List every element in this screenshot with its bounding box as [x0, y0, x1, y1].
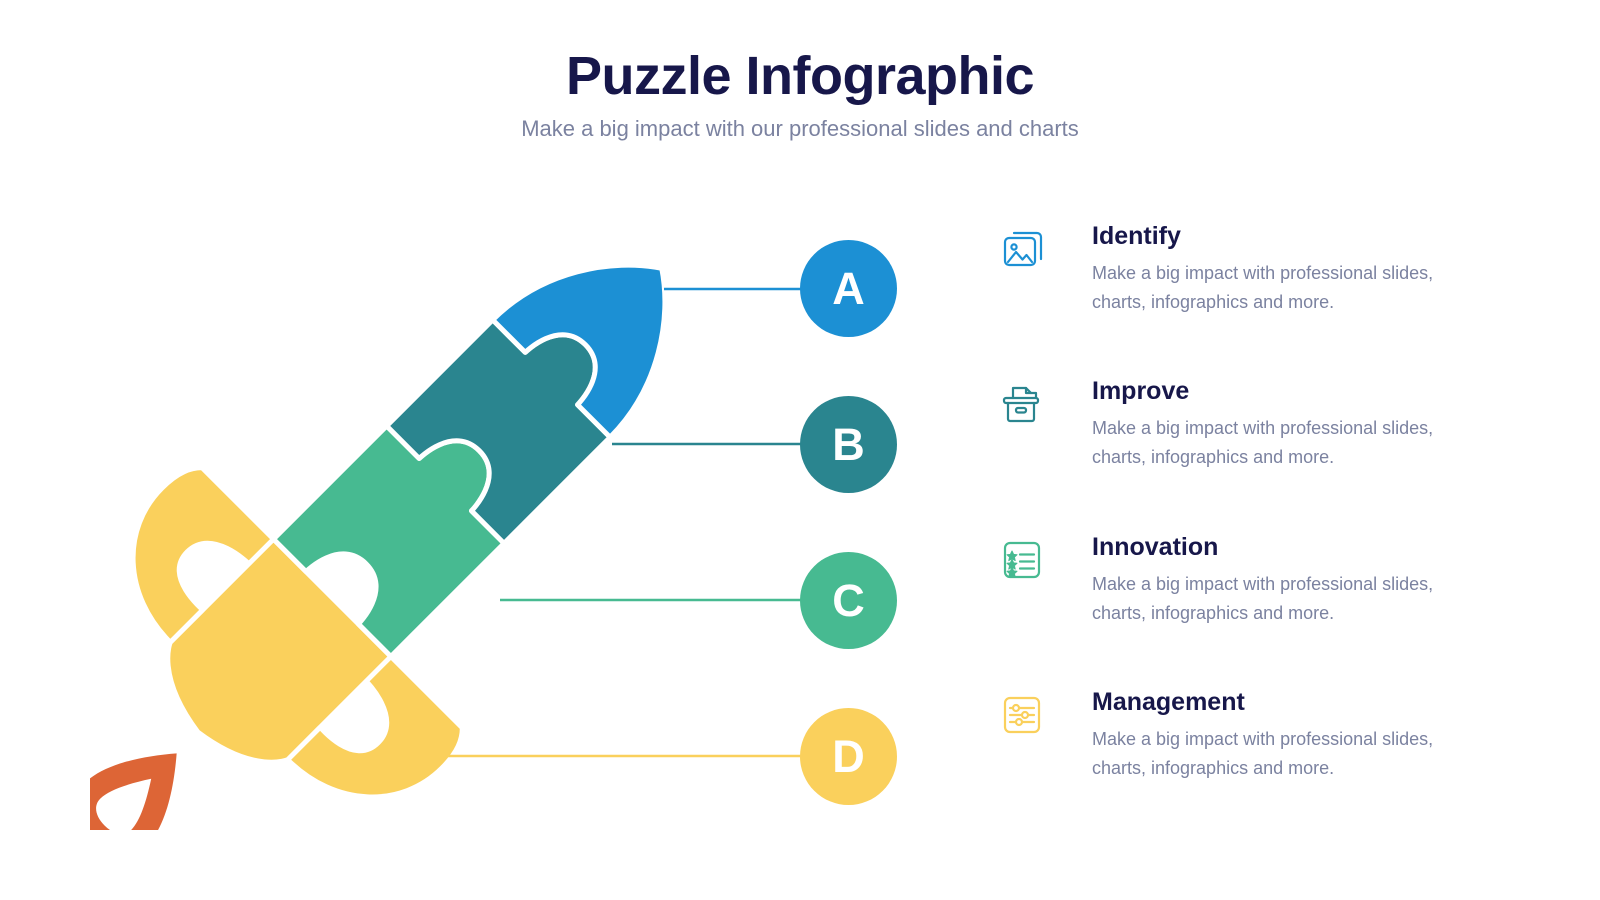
sliders-icon	[1000, 688, 1058, 744]
feature-item-identify[interactable]: Identify Make a big impact with professi…	[1000, 222, 1520, 316]
feature-text-improve: Improve Make a big impact with professio…	[1092, 377, 1520, 471]
feature-item-innovation[interactable]: Innovation Make a big impact with profes…	[1000, 533, 1520, 627]
marker-letter-a: A	[832, 266, 865, 311]
feature-item-management[interactable]: Management Make a big impact with profes…	[1000, 688, 1520, 782]
header: Puzzle Infographic Make a big impact wit…	[0, 46, 1600, 143]
feature-desc-innovation: Make a big impact with professional slid…	[1092, 570, 1472, 628]
feature-text-innovation: Innovation Make a big impact with profes…	[1092, 533, 1520, 627]
marker-letter-d: D	[832, 734, 865, 779]
page-subtitle: Make a big impact with our professional …	[0, 116, 1600, 142]
feature-item-improve[interactable]: Improve Make a big impact with professio…	[1000, 377, 1520, 471]
marker-circle-b[interactable]: B	[800, 396, 897, 493]
feature-title-improve: Improve	[1092, 377, 1520, 406]
photo-stack-icon	[1000, 222, 1058, 278]
rocket-puzzle-graphic	[90, 210, 730, 830]
feature-desc-improve: Make a big impact with professional slid…	[1092, 414, 1472, 472]
marker-circle-d[interactable]: D	[800, 708, 897, 805]
feature-title-identify: Identify	[1092, 222, 1520, 251]
marker-letter-c: C	[832, 578, 865, 623]
feature-title-management: Management	[1092, 688, 1520, 717]
marker-circle-a[interactable]: A	[800, 240, 897, 337]
marker-letter-b: B	[832, 422, 865, 467]
rocket-flame	[90, 722, 208, 830]
star-checklist-icon	[1000, 533, 1058, 589]
marker-circle-c[interactable]: C	[800, 552, 897, 649]
feature-title-innovation: Innovation	[1092, 533, 1520, 562]
page-title: Puzzle Infographic	[0, 46, 1600, 106]
feature-text-identify: Identify Make a big impact with professi…	[1092, 222, 1520, 316]
rocket-puzzle-svg	[90, 210, 730, 830]
feature-desc-management: Make a big impact with professional slid…	[1092, 725, 1472, 783]
file-box-icon	[1000, 377, 1058, 433]
feature-desc-identify: Make a big impact with professional slid…	[1092, 259, 1472, 317]
feature-text-management: Management Make a big impact with profes…	[1092, 688, 1520, 782]
infographic-slide: Puzzle Infographic Make a big impact wit…	[0, 0, 1600, 900]
